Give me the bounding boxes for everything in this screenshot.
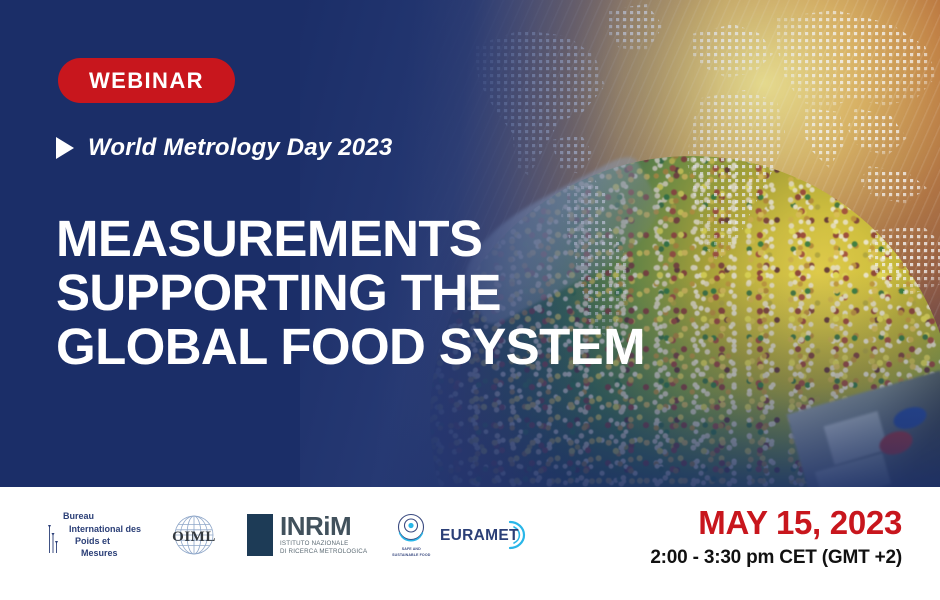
headline-line-2: SUPPORTING THE	[56, 266, 645, 320]
hero-section: WEBINAR World Metrology Day 2023 MEASURE…	[0, 0, 940, 487]
euramet-globe-icon: SAFE AND SUSTAINABLE FOOD	[393, 512, 429, 558]
oiml-logo: OIML	[167, 510, 221, 560]
subtitle-row: World Metrology Day 2023	[56, 136, 392, 160]
inrim-logo: INRiM ISTITUTO NAZIONALE DI RICERCA METR…	[247, 514, 367, 556]
play-triangle-icon	[56, 137, 74, 159]
inrim-text: INRiM ISTITUTO NAZIONALE DI RICERCA METR…	[280, 514, 367, 556]
bipm-line-1: Bureau	[63, 510, 141, 522]
bipm-line-2: International des	[63, 523, 141, 535]
webinar-banner: WEBINAR World Metrology Day 2023 MEASURE…	[0, 0, 940, 600]
inrim-wordmark: INRiM	[280, 514, 367, 539]
headline-line-1: MEASUREMENTS	[56, 212, 645, 266]
event-time: 2:00 - 3:30 pm CET (GMT +2)	[650, 546, 902, 570]
inrim-subtitle-line-2: DI RICERCA METROLOGICA	[280, 548, 367, 556]
bipm-line-3: Poids et	[63, 535, 141, 547]
footer-section: Bureau International des Poids et Mesure…	[0, 487, 940, 600]
euramet-wordmark-wrap: EURAMET	[438, 518, 536, 552]
oiml-wordmark: OIML	[172, 529, 216, 545]
webinar-badge: WEBINAR	[58, 58, 235, 103]
event-datetime: MAY 15, 2023 2:00 - 3:30 pm CET (GMT +2)	[650, 505, 902, 570]
inrim-block-icon	[247, 514, 273, 556]
euramet-tagline: SAFE AND SUSTAINABLE FOOD	[391, 547, 431, 558]
headline-line-3: GLOBAL FOOD SYSTEM	[56, 320, 645, 374]
bipm-mark-icon	[48, 515, 60, 555]
bipm-line-4: Mesures	[63, 547, 141, 559]
euramet-logo: SAFE AND SUSTAINABLE FOOD EURAMET	[393, 510, 536, 560]
event-subtitle: World Metrology Day 2023	[88, 136, 392, 160]
event-date: MAY 15, 2023	[650, 505, 902, 541]
bipm-text: Bureau International des Poids et Mesure…	[63, 510, 141, 560]
bipm-logo: Bureau International des Poids et Mesure…	[48, 510, 141, 560]
euramet-wordmark: EURAMET	[440, 527, 519, 544]
page-title: MEASUREMENTS SUPPORTING THE GLOBAL FOOD …	[56, 212, 645, 374]
euramet-tagline-line-2: SUSTAINABLE FOOD	[391, 553, 431, 558]
inrim-subtitle-line-1: ISTITUTO NAZIONALE	[280, 540, 367, 548]
hero-text-block: WEBINAR World Metrology Day 2023 MEASURE…	[0, 0, 940, 487]
inrim-subtitle: ISTITUTO NAZIONALE DI RICERCA METROLOGIC…	[280, 540, 367, 556]
partner-logos: Bureau International des Poids et Mesure…	[48, 503, 536, 567]
